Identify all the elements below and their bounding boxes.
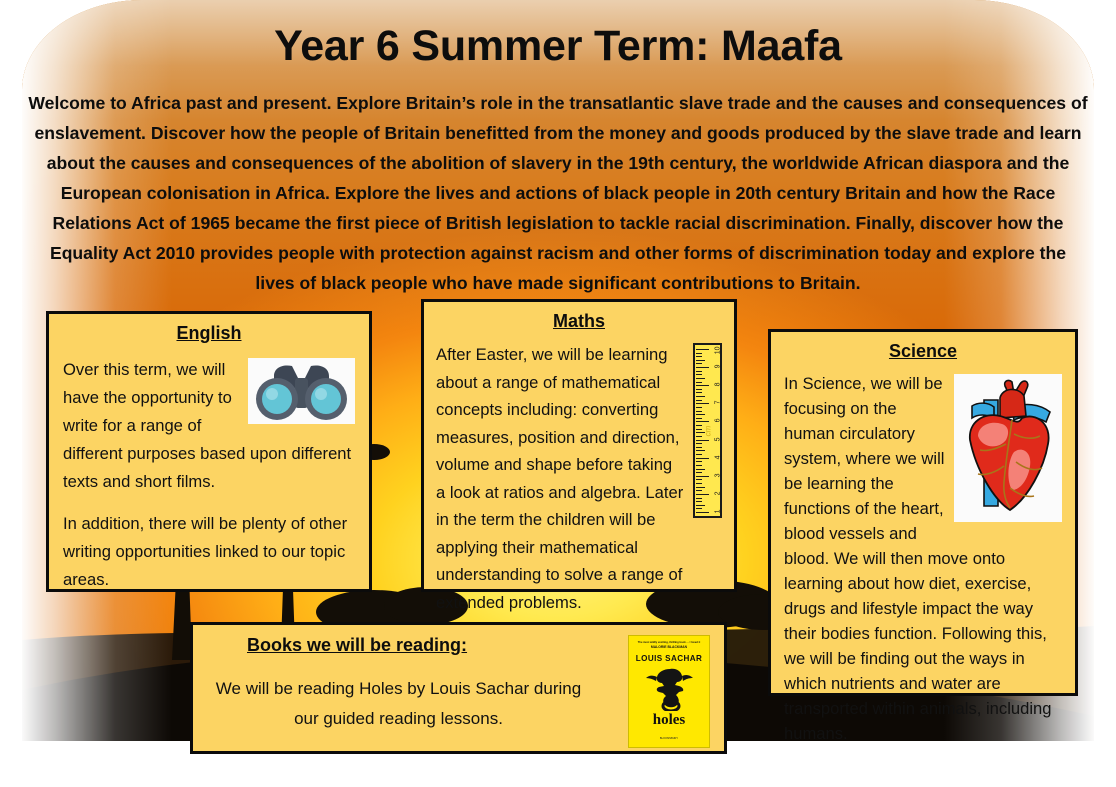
ruler-number-label: 9 — [715, 365, 722, 369]
ruler-minor-tick — [696, 389, 702, 390]
subject-card-english: English Over this term, we will have the… — [46, 311, 372, 592]
intro-paragraph: Welcome to Africa past and present. Expl… — [28, 88, 1088, 298]
ruler-major-tick — [696, 403, 709, 404]
ruler-minor-tick — [696, 396, 705, 397]
ruler-major-tick — [696, 494, 709, 495]
holes-book-cover-icon: The most wildly exciting, thrilling book… — [628, 635, 710, 748]
english-paragraph-2: In addition, there will be plenty of oth… — [63, 510, 355, 594]
ruler-minor-tick — [696, 414, 705, 415]
page-title: Year 6 Summer Term: Maafa — [0, 22, 1116, 71]
ruler-minor-tick — [696, 382, 702, 383]
ruler-minor-tick — [696, 447, 702, 448]
ruler-major-tick — [696, 458, 709, 459]
book-cover-author: LOUIS SACHAR — [629, 654, 709, 663]
ruler-minor-tick — [696, 505, 705, 506]
book-cover-title: holes — [629, 712, 709, 729]
ruler-number-label: 4 — [715, 455, 722, 459]
ruler-minor-tick — [696, 487, 705, 488]
ruler-minor-tick — [696, 461, 702, 462]
ruler-number-label: 1 — [715, 510, 722, 514]
ruler-minor-tick — [696, 490, 702, 491]
ruler-minor-tick — [696, 436, 702, 437]
ruler-major-tick — [696, 421, 709, 422]
ruler-minor-tick — [696, 429, 702, 430]
ruler-minor-tick — [696, 411, 702, 412]
ruler-minor-tick — [696, 472, 702, 473]
ruler-minor-tick — [696, 465, 702, 466]
ruler-minor-tick — [696, 356, 702, 357]
ruler-minor-tick — [696, 432, 705, 433]
maths-paragraph-1: After Easter, we will be learning about … — [436, 341, 722, 616]
ruler-minor-tick — [696, 371, 702, 372]
ruler-watermark: cm — [703, 425, 712, 436]
science-heading: Science — [784, 341, 1062, 362]
ruler-major-tick — [696, 349, 709, 350]
ruler-minor-tick — [696, 407, 702, 408]
human-heart-diagram-icon — [954, 374, 1062, 522]
ruler-minor-tick — [696, 508, 702, 509]
ruler-minor-tick — [696, 450, 705, 451]
ruler-minor-tick — [696, 400, 702, 401]
ruler-minor-tick — [696, 479, 702, 480]
ruler-major-tick — [696, 367, 709, 368]
ruler-minor-tick — [696, 363, 702, 364]
ruler-number-label: 8 — [715, 383, 722, 387]
book-cover-quote: The most wildly exciting, thrilling book… — [629, 641, 709, 650]
binoculars-icon — [248, 358, 355, 424]
ruler-icon: cm 12345678910 — [693, 343, 722, 518]
ruler-major-tick — [696, 476, 709, 477]
ruler-minor-tick — [696, 378, 705, 379]
ruler-number-label: 6 — [715, 419, 722, 423]
ruler-major-tick — [696, 512, 709, 513]
ruler-minor-tick — [696, 501, 702, 502]
subject-card-maths: Maths cm 12345678910 After Easter, we wi… — [421, 299, 737, 592]
ruler-minor-tick — [696, 418, 702, 419]
ruler-minor-tick — [696, 353, 702, 354]
ruler-major-tick — [696, 385, 709, 386]
ruler-major-tick — [696, 440, 709, 441]
reading-books-card: Books we will be reading: We will be rea… — [190, 622, 727, 754]
ruler-minor-tick — [696, 469, 705, 470]
ruler-minor-tick — [696, 360, 705, 361]
poster-page: Year 6 Summer Term: Maafa Welcome to Afr… — [0, 0, 1116, 787]
ruler-minor-tick — [696, 498, 702, 499]
ruler-minor-tick — [696, 425, 702, 426]
maths-heading: Maths — [436, 311, 722, 332]
book-cover-publisher: BLOOMSBURY — [629, 737, 709, 740]
lizard-silhouette-icon — [629, 665, 710, 711]
ruler-minor-tick — [696, 483, 702, 484]
ruler-number-label: 3 — [715, 473, 722, 477]
ruler-number-label: 2 — [715, 491, 722, 495]
ruler-minor-tick — [696, 392, 702, 393]
ruler-minor-tick — [696, 443, 702, 444]
ruler-number-label: 7 — [715, 401, 722, 405]
subject-card-science: Science In Science — [768, 329, 1078, 696]
ruler-number-label: 5 — [715, 437, 722, 441]
ruler-minor-tick — [696, 374, 702, 375]
ruler-minor-tick — [696, 454, 702, 455]
english-heading: English — [63, 323, 355, 344]
ruler-number-label: 10 — [715, 347, 722, 355]
